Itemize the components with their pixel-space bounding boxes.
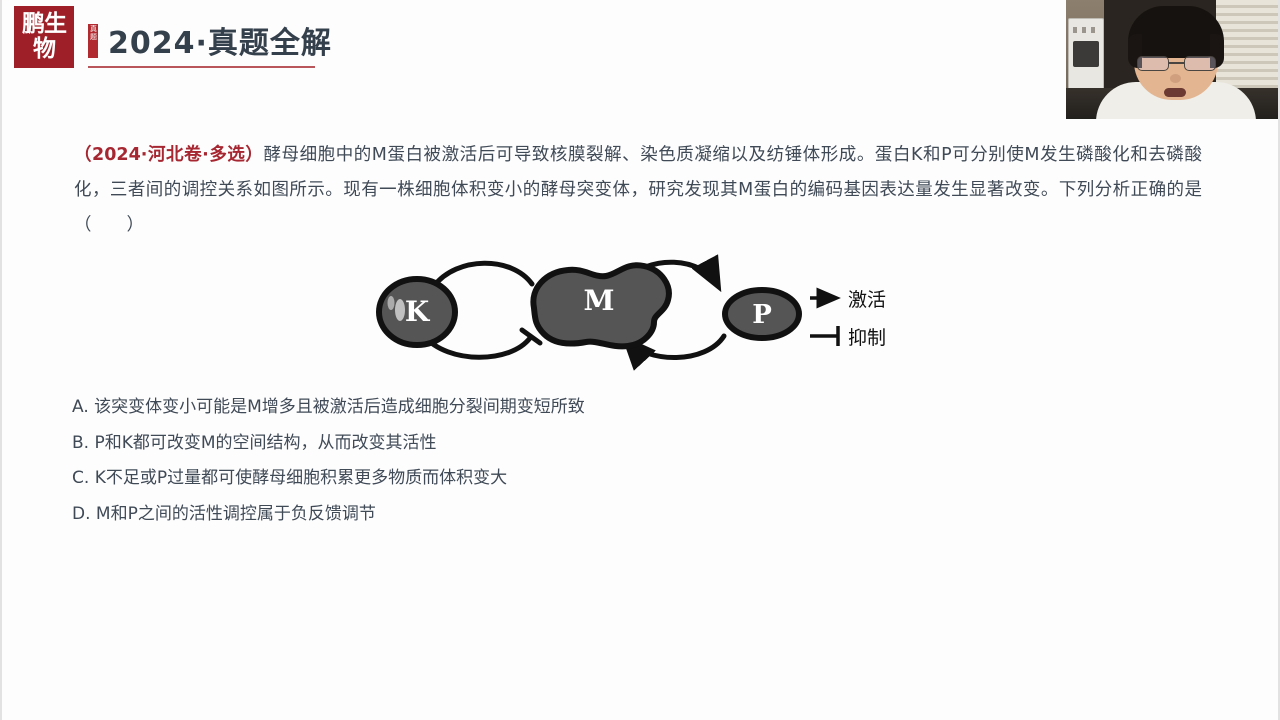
presenter-glasses	[1136, 56, 1218, 72]
appliance-knobs	[1073, 27, 1099, 33]
legend-activate-label: 激活	[848, 289, 886, 311]
webcam-appliance	[1068, 18, 1104, 90]
node-k: K	[379, 279, 455, 345]
option-a[interactable]: A. 该突变体变小可能是M增多且被激活后造成细胞分裂间期变短所致	[72, 390, 1072, 426]
answer-options: A. 该突变体变小可能是M增多且被激活后造成细胞分裂间期变短所致 B. P和K都…	[72, 390, 1072, 532]
question-block: （2024·河北卷·多选）酵母细胞中的M蛋白被激活后可导致核膜裂解、染色质凝缩以…	[74, 138, 1202, 243]
question-source-tag: （2024·河北卷·多选）	[74, 145, 263, 165]
lecture-slide: 鹏生物 真题 2024·真题全解 （2024·河北卷·	[0, 0, 1280, 720]
title-badge: 真题	[88, 24, 98, 58]
legend-inhibit-label: 抑制	[848, 327, 886, 349]
glasses-lens-right	[1184, 56, 1216, 71]
option-a-text: 该突变体变小可能是M增多且被激活后造成细胞分裂间期变短所致	[94, 397, 585, 417]
regulation-diagram: K M P 激活 抑制	[362, 248, 942, 373]
node-p-label: P	[752, 300, 772, 330]
brand-logo-text: 鹏生物	[18, 12, 70, 62]
option-d-key: D.	[72, 504, 91, 524]
node-k-label: K	[405, 295, 431, 328]
option-b[interactable]: B. P和K都可改变M的空间结构，从而改变其活性	[72, 426, 1072, 462]
header-title-group: 真题 2024·真题全解	[88, 18, 328, 74]
node-m: M	[533, 265, 668, 346]
option-d[interactable]: D. M和P之间的活性调控属于负反馈调节	[72, 497, 1072, 533]
page-title: 2024·真题全解	[108, 18, 332, 62]
option-c[interactable]: C. K不足或P过量都可使酵母细胞积累更多物质而体积变大	[72, 461, 1072, 497]
webcam-window-blinds	[1216, 0, 1278, 88]
option-a-key: A.	[72, 397, 89, 417]
presenter-nose	[1170, 74, 1181, 83]
presenter-mouth	[1164, 88, 1186, 97]
webcam-overlay[interactable]	[1066, 0, 1278, 119]
option-b-key: B.	[72, 433, 89, 453]
option-d-text: M和P之间的活性调控属于负反馈调节	[96, 504, 376, 524]
legend-activate: 激活	[810, 289, 886, 311]
legend-inhibit: 抑制	[810, 326, 886, 349]
glasses-lens-left	[1137, 56, 1169, 71]
brand-logo: 鹏生物	[14, 6, 74, 68]
option-b-text: P和K都可改变M的空间结构，从而改变其活性	[94, 433, 436, 453]
option-c-text: K不足或P过量都可使酵母细胞积累更多物质而体积变大	[95, 468, 507, 488]
appliance-window	[1073, 41, 1099, 67]
title-underline	[88, 66, 315, 68]
node-m-label: M	[584, 284, 615, 317]
option-c-key: C.	[72, 468, 89, 488]
node-p: P	[725, 290, 799, 338]
glasses-bridge	[1169, 62, 1184, 64]
diagram-legend: 激活 抑制	[810, 289, 886, 349]
